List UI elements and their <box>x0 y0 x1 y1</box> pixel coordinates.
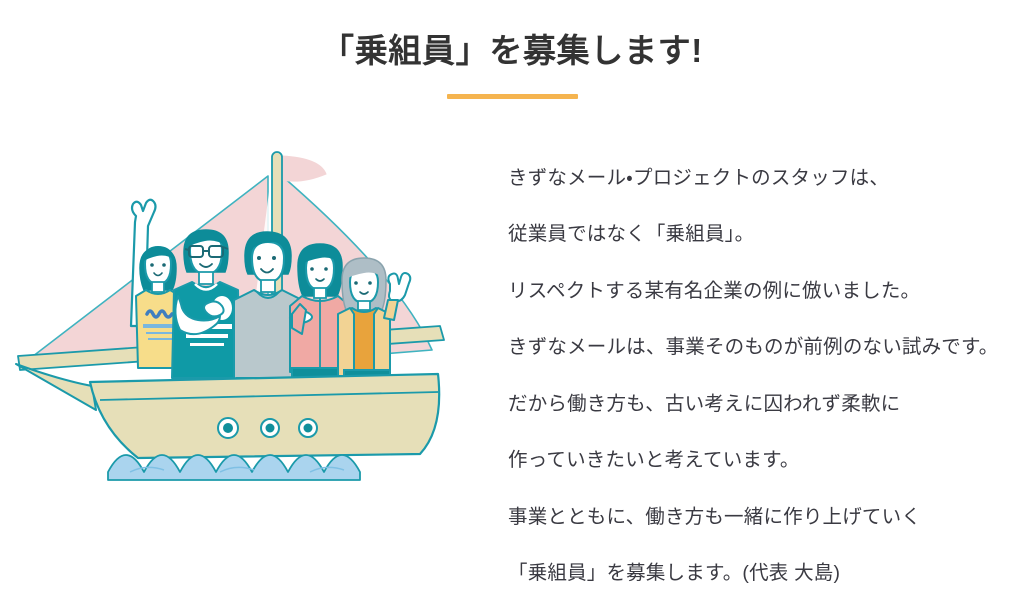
hull-body <box>90 374 439 458</box>
sailboat-illustration-svg <box>0 128 480 481</box>
crew-3-face <box>252 242 284 282</box>
body-line: 事業とともに、働き方も一緒に作り上げていく <box>508 499 1020 536</box>
crew-4-eye-right <box>324 267 328 271</box>
content-row: きずなメール・プロジェクトのスタッフは、 従業員ではなく「乗組員」。 リスペクト… <box>0 128 1024 481</box>
divider-rule <box>447 94 578 99</box>
crew-5-eye-left <box>354 281 358 285</box>
cream-hull <box>16 364 96 410</box>
crew-5-waving-hand <box>388 273 410 301</box>
crew-1-neck <box>152 282 164 292</box>
body-line: 従業員ではなく「乗組員」。 <box>508 216 1020 253</box>
crew-5-neck <box>358 301 370 310</box>
pink-pennant-flag <box>282 156 326 181</box>
crew-1-eye-right <box>162 263 166 267</box>
porthole-2-inner <box>266 424 275 433</box>
crew-4-eye-left <box>310 267 314 271</box>
body-line: 作っていきたいと考えています。 <box>508 442 1020 479</box>
body-line: だから働き方も、古い考えに囚われず柔軟に <box>508 386 1020 423</box>
hull-portholes <box>218 418 317 438</box>
crew-3-eye-left <box>257 256 261 260</box>
hull-group <box>16 364 439 458</box>
crew-2-neck <box>199 272 213 284</box>
crew-2-hand <box>204 301 224 316</box>
title-divider <box>0 94 1024 104</box>
body-text-block: きずなメール・プロジェクトのスタッフは、 従業員ではなく「乗組員」。 リスペクト… <box>508 140 1020 612</box>
body-line: きずなメール・プロジェクトのスタッフは、 <box>508 160 1020 197</box>
crew-3-eye-right <box>272 256 276 260</box>
page-title: 「乗組員」を募集します! <box>0 28 1024 74</box>
body-line: きずなメールは、事業そのものが前例のない試みです。 <box>508 329 1020 366</box>
body-line: リスペクトする某有名企業の例に倣いました。 <box>508 273 1020 310</box>
crew-5-eye-right <box>368 281 372 285</box>
body-line: 「乗組員」を募集します。(代表 大島) <box>508 555 1020 592</box>
crew-3-neck <box>261 280 275 292</box>
porthole-1-inner <box>223 423 233 433</box>
crew-1-eye-left <box>150 263 154 267</box>
sailboat-with-crew-illustration <box>0 128 480 481</box>
crew-4-neck <box>314 288 326 298</box>
porthole-3-inner <box>304 424 313 433</box>
